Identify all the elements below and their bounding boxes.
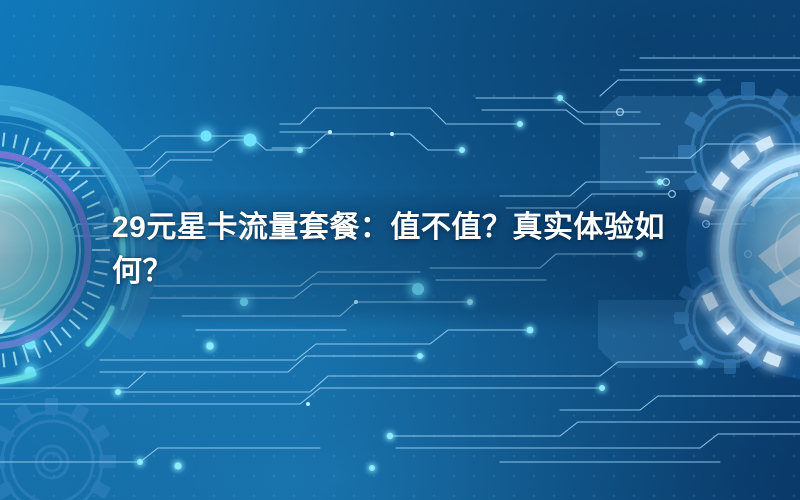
page-title: 29元星卡流量套餐：值不值？真实体验如何？ [112, 206, 712, 294]
promo-banner: 29元星卡流量套餐：值不值？真实体验如何？ [0, 0, 800, 500]
